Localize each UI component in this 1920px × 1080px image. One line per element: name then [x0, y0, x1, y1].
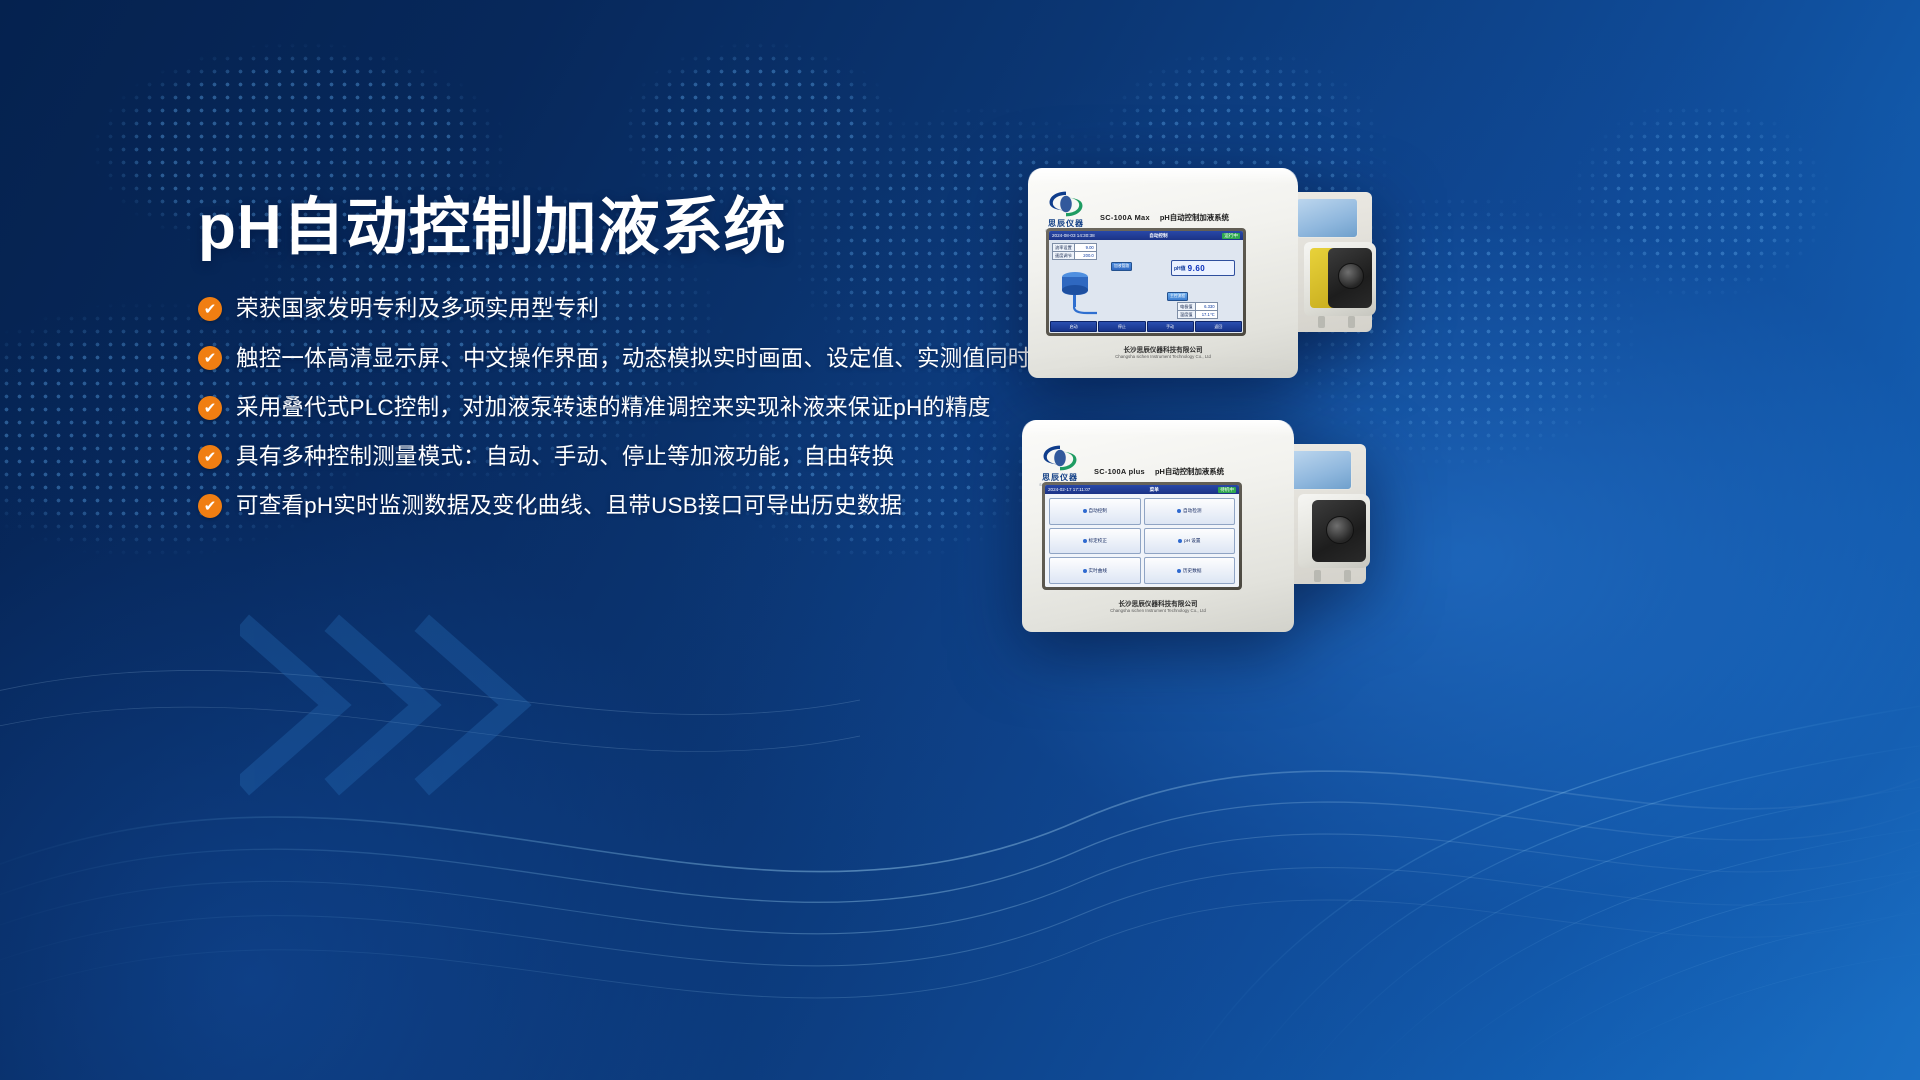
check-icon: ✔ [198, 445, 222, 469]
menu-item-label: 历史数据 [1183, 568, 1201, 574]
flow-chip[interactable]: 主控流程 [1167, 292, 1188, 301]
list-item: ✔ 荣获国家发明专利及多项实用型专利 [198, 294, 1098, 323]
pipeline-chip[interactable]: 加液管路 [1111, 262, 1132, 271]
model-number: SC-100A Max [1100, 213, 1150, 222]
ph-label: pH值 [1174, 265, 1186, 272]
model-description: pH自动控制加液系统 [1155, 467, 1224, 476]
brand-logo: 思辰仪器 SICHEN INSTRUMENTS [1044, 190, 1088, 233]
bullet-dot-icon [1178, 539, 1182, 543]
feature-text: 具有多种控制测量模式：自动、手动、停止等加液功能，自由转换 [236, 442, 894, 471]
ph-value: 9.60 [1188, 264, 1206, 273]
brand-name-cn: 思辰仪器 [1042, 474, 1078, 482]
table-row: 流率设置 9.00 [1053, 244, 1097, 252]
status-badge: 运行中 [1222, 233, 1240, 239]
list-item: ✔ 触控一体高清显示屏、中文操作界面，动态模拟实时画面、设定值、实测值同时显示 [198, 344, 1098, 373]
device-bevel [1022, 420, 1294, 436]
product-photo-sc100a-plus: 思辰仪器 SICHEN INSTRUMENTS SC-100A plus pH自… [1022, 420, 1382, 638]
setpoint-table: 流率设置 9.00 速度调节 200.0 [1052, 243, 1097, 260]
menu-item-auto-detect[interactable]: 自动检测 [1144, 498, 1236, 525]
promo-banner: pH自动控制加液系统 ✔ 荣获国家发明专利及多项实用型专利 ✔ 触控一体高清显示… [0, 0, 1920, 1080]
screen-button-back[interactable]: 返回 [1195, 321, 1242, 332]
pump-tube-port [1318, 316, 1325, 328]
sichen-logo-icon [1046, 190, 1086, 218]
list-item: ✔ 采用叠代式PLC控制，对加液泵转速的精准调控来实现补液来保证pH的精度 [198, 393, 1098, 422]
screen-titlebar: 2024-08-03 14:30:38 自动控制 运行中 [1049, 231, 1243, 240]
banner-copy: pH自动控制加液系统 ✔ 荣获国家发明专利及多项实用型专利 ✔ 触控一体高清显示… [198, 196, 1098, 541]
row-label: 电极值 [1178, 303, 1196, 311]
screen-button-stop[interactable]: 停止 [1098, 321, 1145, 332]
bullet-dot-icon [1177, 509, 1181, 513]
device-screen[interactable]: 2024-08-03 14:30:38 自动控制 运行中 流率设置 9.00 速… [1049, 231, 1243, 333]
menu-item-label: 标定校正 [1089, 538, 1107, 544]
table-row: 电极值 6.330 [1178, 303, 1218, 311]
pump-tube-port [1344, 570, 1351, 582]
touchscreen-frame: 2024-08-03 14:30:38 自动控制 运行中 流率设置 9.00 速… [1046, 228, 1246, 336]
company-name-cn: 长沙思辰仪器科技有限公司 [1028, 344, 1298, 354]
tank-diagram-icon [1057, 270, 1097, 316]
bullet-dot-icon [1083, 569, 1087, 573]
row-label: 速度调节 [1053, 252, 1075, 260]
screen-title: 菜单 [1150, 487, 1159, 493]
row-value: 6.330 [1195, 303, 1217, 311]
table-row: 温度值 17.1℃ [1178, 311, 1218, 319]
company-name-cn: 长沙思辰仪器科技有限公司 [1022, 598, 1294, 608]
row-label: 流率设置 [1053, 244, 1075, 252]
check-icon: ✔ [198, 396, 222, 420]
check-icon: ✔ [198, 494, 222, 518]
menu-item-ph-settings[interactable]: pH 设置 [1144, 528, 1236, 555]
device-bevel [1028, 168, 1298, 184]
device-body: 思辰仪器 SICHEN INSTRUMENTS SC-100A Max pH自动… [1028, 168, 1298, 378]
model-number: SC-100A plus [1094, 467, 1145, 476]
menu-item-label: 自动控制 [1089, 508, 1107, 514]
screen-button-start[interactable]: 启动 [1050, 321, 1097, 332]
device-screen[interactable]: 2024-02-17 17:11:07 菜单 待机中 自动控制 [1045, 485, 1239, 587]
feature-text: 触控一体高清显示屏、中文操作界面，动态模拟实时画面、设定值、实测值同时显示 [236, 344, 1076, 373]
company-name-en: Changsha sichen Instrument Technology Co… [1022, 608, 1294, 613]
device-body: 思辰仪器 SICHEN INSTRUMENTS SC-100A plus pH自… [1022, 420, 1294, 632]
touchscreen-frame: 2024-02-17 17:11:07 菜单 待机中 自动控制 [1042, 482, 1242, 590]
row-value: 200.0 [1074, 252, 1096, 260]
feature-text: 荣获国家发明专利及多项实用型专利 [236, 294, 599, 323]
screen-titlebar: 2024-02-17 17:11:07 菜单 待机中 [1045, 485, 1239, 494]
screen-button-manual[interactable]: 手动 [1147, 321, 1194, 332]
bullet-dot-icon [1177, 569, 1181, 573]
page-title: pH自动控制加液系统 [198, 196, 1098, 260]
pump-rotor-hub [1338, 263, 1364, 289]
device-model-label: SC-100A plus pH自动控制加液系统 [1094, 466, 1224, 477]
screen-button-row: 启动 停止 手动 返回 [1049, 320, 1243, 333]
brand-logo: 思辰仪器 SICHEN INSTRUMENTS [1038, 444, 1082, 487]
brand-name-cn: 思辰仪器 [1048, 220, 1084, 228]
menu-item-label: 实时曲线 [1089, 568, 1107, 574]
menu-item-calibration[interactable]: 标定校正 [1049, 528, 1141, 555]
pump-tube-port [1348, 316, 1355, 328]
menu-item-label: 自动检测 [1183, 508, 1201, 514]
list-item: ✔ 可查看pH实时监测数据及变化曲线、且带USB接口可导出历史数据 [198, 491, 1098, 520]
product-photo-sc100a-max: 思辰仪器 SICHEN INSTRUMENTS SC-100A Max pH自动… [1028, 168, 1388, 386]
feature-text: 可查看pH实时监测数据及变化曲线、且带USB接口可导出历史数据 [236, 491, 902, 520]
screen-datetime: 2024-08-03 14:30:38 [1052, 233, 1095, 238]
device-side-window [1290, 450, 1352, 490]
menu-grid: 自动控制 自动检测 标定校正 [1049, 498, 1235, 584]
ph-readout-panel: pH值 9.60 [1171, 260, 1235, 276]
bullet-dot-icon [1083, 539, 1087, 543]
screen-datetime: 2024-02-17 17:11:07 [1048, 487, 1090, 492]
row-value: 17.1℃ [1195, 311, 1217, 319]
menu-item-auto-control[interactable]: 自动控制 [1049, 498, 1141, 525]
row-label: 温度值 [1178, 311, 1196, 319]
menu-item-history-data[interactable]: 历史数据 [1144, 557, 1236, 584]
check-icon: ✔ [198, 297, 222, 321]
pump-tube-port [1314, 570, 1321, 582]
menu-item-label: pH 设置 [1184, 538, 1200, 544]
bullet-dot-icon [1083, 509, 1087, 513]
device-side-window [1296, 198, 1358, 238]
screen-body: 自动控制 自动检测 标定校正 [1045, 494, 1239, 587]
row-value: 9.00 [1074, 244, 1096, 252]
status-badge: 待机中 [1218, 487, 1236, 493]
feature-text: 采用叠代式PLC控制，对加液泵转速的精准调控来实现补液来保证pH的精度 [236, 393, 991, 422]
company-name-en: Changsha sichen Instrument Technology Co… [1028, 354, 1298, 359]
sichen-logo-icon [1040, 444, 1080, 472]
check-icon: ✔ [198, 346, 222, 370]
table-row: 速度调节 200.0 [1053, 252, 1097, 260]
electrode-table: 电极值 6.330 温度值 17.1℃ [1177, 302, 1218, 319]
chevron-arrows-icon [240, 610, 540, 810]
pump-rotor-hub [1326, 516, 1354, 544]
menu-item-realtime-curve[interactable]: 实时曲线 [1049, 557, 1141, 584]
device-model-label: SC-100A Max pH自动控制加液系统 [1100, 212, 1229, 223]
feature-list: ✔ 荣获国家发明专利及多项实用型专利 ✔ 触控一体高清显示屏、中文操作界面，动态… [198, 294, 1098, 520]
screen-title: 自动控制 [1149, 233, 1167, 239]
model-description: pH自动控制加液系统 [1160, 213, 1229, 222]
screen-body: 流率设置 9.00 速度调节 200.0 加液管路 [1049, 240, 1243, 333]
list-item: ✔ 具有多种控制测量模式：自动、手动、停止等加液功能，自由转换 [198, 442, 1098, 471]
